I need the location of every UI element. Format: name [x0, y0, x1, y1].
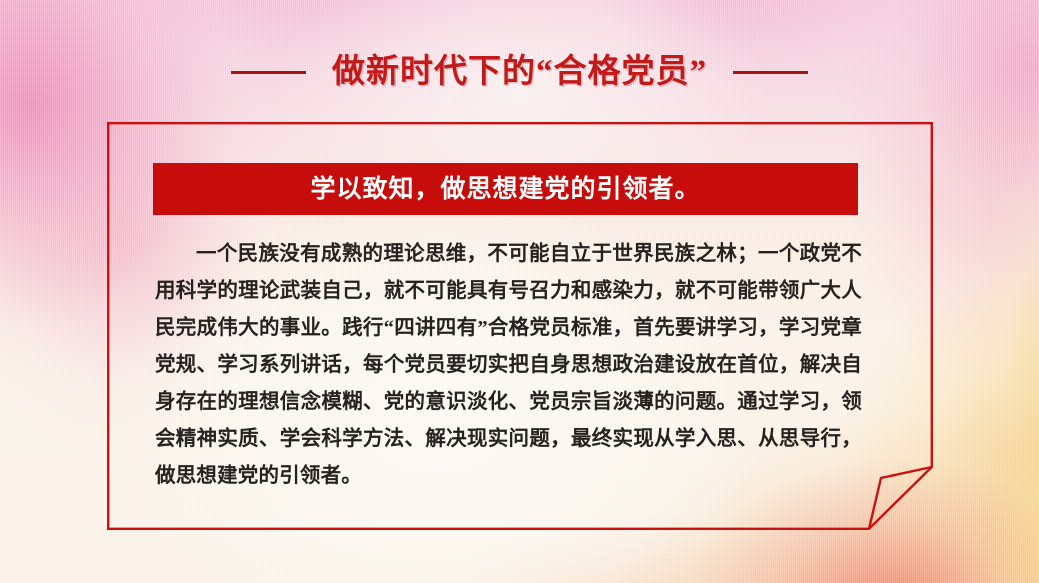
headline-banner: 学以致知，做思想建党的引领者。: [153, 163, 858, 215]
slide-canvas: 做新时代下的“合格党员” 学以致知，做思想建党的引领者。 一个民族没有成熟的理论…: [0, 0, 1039, 583]
slide-title-row: 做新时代下的“合格党员”: [0, 48, 1039, 96]
headline-banner-text: 学以致知，做思想建党的引领者。: [310, 177, 700, 202]
title-dash-right-icon: [733, 71, 808, 74]
body-paragraph: 一个民族没有成熟的理论思维，不可能自立于世界民族之林；一个政党不用科学的理论武装…: [155, 236, 862, 495]
title-dash-left-icon: [231, 71, 306, 74]
page-title: 做新时代下的“合格党员”: [332, 56, 707, 89]
